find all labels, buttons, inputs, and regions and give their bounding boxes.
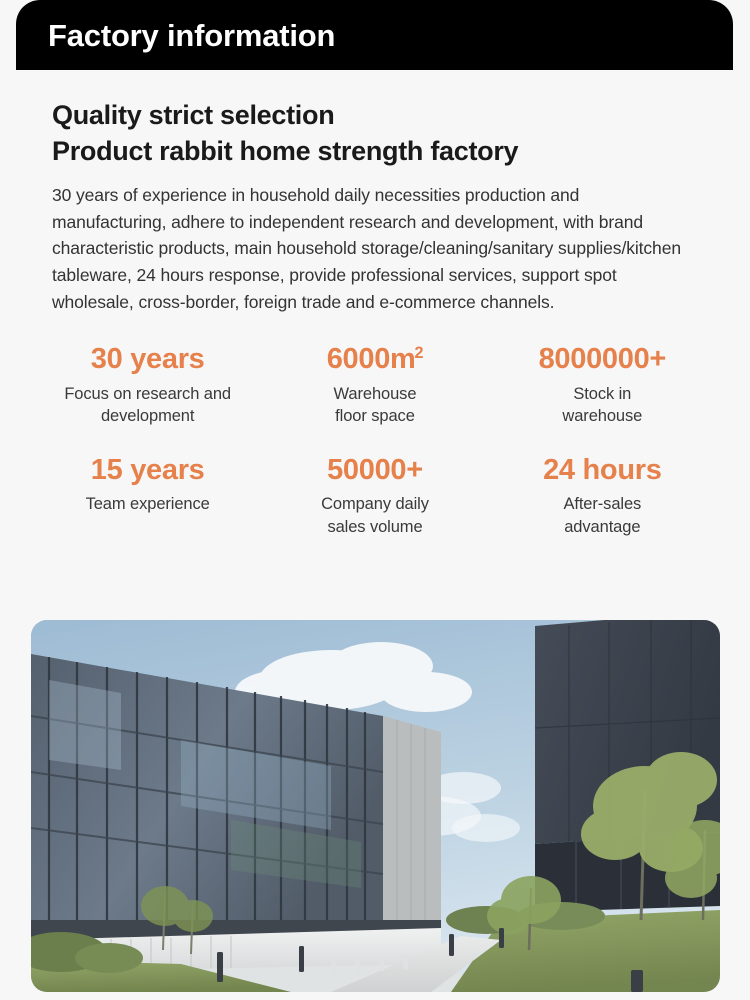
stat-value: 50000+ [267,452,482,489]
factory-information-header: Factory information [16,0,733,70]
stat-item-team-experience: 15 years Team experience [34,452,261,538]
stat-value-main: 50000+ [327,454,423,486]
stat-label-line-2: sales volume [327,518,422,536]
stat-label: Company daily sales volume [267,493,482,538]
stat-label-line-2: advantage [564,518,640,536]
stat-item-after-sales: 24 hours After-sales advantage [489,452,716,538]
stat-label: Warehouse floor space [267,383,482,428]
stat-value: 15 years [40,452,255,489]
stat-label-line-2: warehouse [562,407,642,425]
stat-label: Stock in warehouse [495,383,710,428]
intro-heading-line-2: Product rabbit home strength factory [52,134,698,170]
stat-item-warehouse-area: 6000m2 Warehouse floor space [261,341,488,427]
stat-label: After-sales advantage [495,493,710,538]
stat-label-line-1: Warehouse [334,385,417,403]
stat-label-line-1: Team experience [86,495,210,513]
stat-value-main: 8000000+ [539,343,666,375]
stat-label-line-1: Focus on research and [64,385,231,403]
stat-value: 24 hours [495,452,710,489]
stat-value: 6000m2 [267,341,482,378]
page-title: Factory information [16,20,335,51]
stat-value-main: 30 years [91,343,205,375]
intro-heading-line-1: Quality strict selection [52,98,698,134]
stat-value-main: 6000m [327,343,416,375]
factory-building-photo [31,620,720,992]
intro-headings: Quality strict selection Product rabbit … [0,72,750,169]
stat-value: 30 years [40,341,255,378]
stat-value-main: 15 years [91,454,205,486]
factory-stats-grid: 30 years Focus on research and developme… [0,341,750,538]
stat-item-daily-sales: 50000+ Company daily sales volume [261,452,488,538]
stat-label-line-1: Stock in [573,385,631,403]
stat-label-line-2: floor space [335,407,415,425]
stat-label-line-2: development [101,407,194,425]
factory-information-content: Quality strict selection Product rabbit … [0,72,750,538]
stat-label: Team experience [40,493,255,515]
stat-value: 8000000+ [495,341,710,378]
stat-value-main: 24 hours [543,454,661,486]
stat-item-years-experience: 30 years Focus on research and developme… [34,341,261,427]
stat-value-superscript: 2 [415,344,424,362]
stat-label-line-1: After-sales [563,495,641,513]
stat-label: Focus on research and development [40,383,255,428]
stat-item-stock: 8000000+ Stock in warehouse [489,341,716,427]
stat-label-line-1: Company daily [321,495,429,513]
intro-paragraph: 30 years of experience in household dail… [0,169,750,315]
factory-building-illustration [31,620,720,992]
